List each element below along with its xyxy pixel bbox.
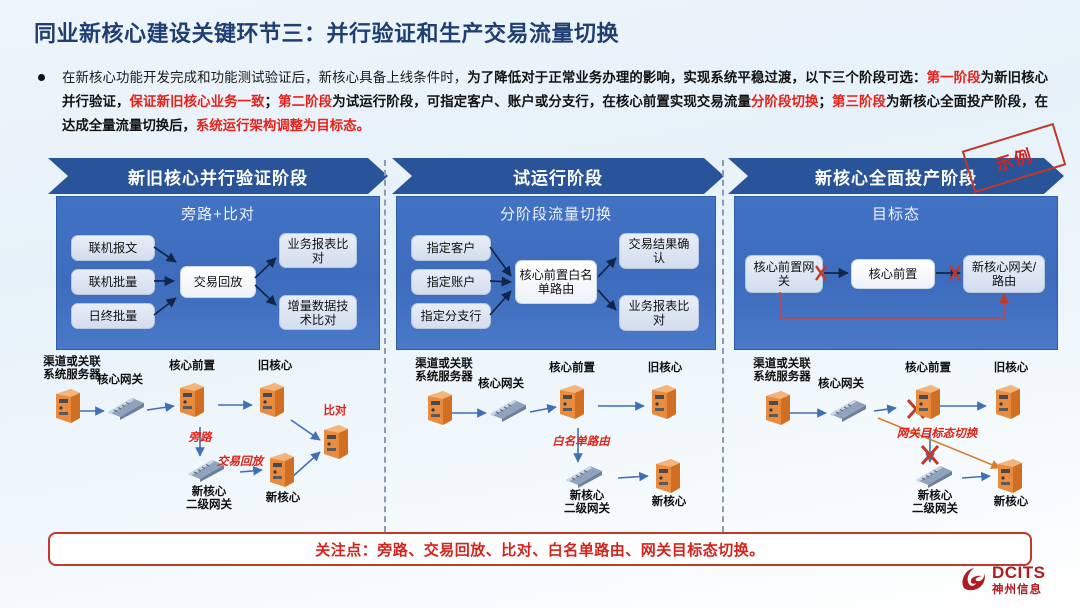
col3-server-icon-3 (992, 384, 1022, 425)
bullet-segment-9: ； (819, 94, 832, 109)
col2-gateway-icon-1 (488, 398, 528, 427)
col2-node-5-label: 新核心 (634, 496, 704, 509)
bullet-segment-7: 为试运行阶段，可指定客户、账户或分支行，在核心前置实现交易流量 (332, 94, 751, 109)
col1-server-icon-2 (176, 382, 206, 423)
phase1-input-3[interactable]: 日终批量 (71, 303, 155, 329)
bullet-segment-2: 第一阶段 (927, 70, 981, 85)
phase-panel-1-title: 旁路+比对 (57, 203, 379, 224)
col1-server-icon-4 (320, 424, 350, 465)
col2-gateway-icon-4 (564, 464, 604, 493)
col2-server-icon-2 (556, 384, 586, 425)
phase1-input-1[interactable]: 联机报文 (71, 235, 155, 261)
col3-node-3-label: 旧核心 (976, 362, 1046, 375)
col3-edge-label-gwswitch: 网关目标态切换 (884, 428, 990, 441)
col3-node-4-label: 新核心二级网关 (892, 490, 978, 516)
bullet-dot-icon (38, 74, 45, 81)
bullet-segment-1: 为了降低对于正常业务办理的影响，实现系统平稳过渡，以下三个阶段可选： (467, 70, 926, 85)
col2-server-icon-0 (424, 390, 454, 431)
column-separator-1 (384, 160, 386, 532)
dcits-cn-name: 神州信息 (992, 581, 1042, 597)
col1-gateway-icon-1 (106, 396, 146, 425)
dcits-mark-icon (958, 564, 988, 594)
col3-node-1-label: 核心网关 (806, 378, 876, 391)
col1-edge-label-replay: 交易回放 (208, 456, 272, 469)
col1-node-3-label: 旧核心 (240, 360, 310, 373)
phase-panel-2: 分阶段流量切换 指定客户 指定账户 指定分支行 核心前置白名单路由 交易结果确认… (396, 196, 716, 350)
col1-node-6-label: 新核心 (248, 492, 318, 505)
col1-node-5-label: 新核心二级网关 (166, 486, 252, 512)
phase1-hub[interactable]: 交易回放 (180, 266, 256, 298)
phase2-hub[interactable]: 核心前置白名单路由 (515, 260, 597, 304)
col2-edge-label-whitelist: 白名单路由 (546, 436, 616, 449)
col1-compare-label: 比对 (308, 405, 362, 418)
phase-banner-2[interactable]: 试运行阶段 (392, 158, 724, 194)
phase3-chain-2[interactable]: 核心前置 (851, 259, 935, 289)
col3-server-icon-0 (762, 390, 792, 431)
col1-server-icon-0 (52, 388, 82, 429)
phase2-input-1[interactable]: 指定客户 (411, 235, 491, 261)
bullet-segment-10: 第三阶段 (832, 94, 886, 109)
phase-banner-1[interactable]: 新旧核心并行验证阶段 (48, 158, 388, 194)
slide-root: 同业新核心建设关键环节三：并行验证和生产交易流量切换 在新核心功能开发完成和功能… (0, 0, 1080, 608)
bullet-segment-8: 分阶段切换 (751, 94, 819, 109)
col2-node-3-label: 旧核心 (630, 362, 700, 375)
col3-server-icon-5 (994, 458, 1024, 499)
col2-server-icon-3 (648, 384, 678, 425)
phase2-input-2[interactable]: 指定账户 (411, 269, 491, 295)
col3-node-2-label: 核心前置 (888, 362, 968, 375)
bullet-segment-6: 第二阶段 (278, 94, 332, 109)
dcits-wordmark: DCITS (992, 563, 1046, 583)
page-title: 同业新核心建设关键环节三：并行验证和生产交易流量切换 (34, 16, 934, 48)
col2-node-2-label: 核心前置 (532, 362, 612, 375)
phase2-output-2[interactable]: 业务报表比对 (619, 295, 699, 331)
col2-server-icon-5 (652, 458, 682, 499)
bullet-segment-0: 在新核心功能开发完成和功能测试验证后，新核心具备上线条件时， (62, 70, 467, 85)
col3-node-5-label: 新核心 (976, 496, 1046, 509)
bullet-paragraph-block: 在新核心功能开发完成和功能测试验证后，新核心具备上线条件时，为了降低对于正常业务… (38, 66, 1048, 138)
bullet-segment-4: 保证新旧核心业务一致 (130, 94, 265, 109)
col2-node-4-label: 新核心二级网关 (544, 490, 630, 516)
bullet-segment-5: ； (265, 94, 278, 109)
dcits-logo: DCITS 神州信息 (958, 562, 1076, 602)
col3-server-icon-2 (912, 384, 942, 425)
col3-gateway-icon-1 (828, 398, 868, 427)
col1-server-icon-3 (256, 382, 286, 423)
col3-gateway-icon-4 (914, 464, 954, 493)
phase-panel-3-title: 目标态 (735, 203, 1057, 224)
phase-panel-3: 目标态 核心前置网关 核心前置 新核心网关/路由 (734, 196, 1058, 350)
phase3-chain-3[interactable]: 新核心网关/路由 (963, 255, 1045, 293)
phase-panel-1: 旁路+比对 联机报文 联机批量 日终批量 交易回放 业务报表比对 增量数据技术比… (56, 196, 380, 350)
phase2-output-1[interactable]: 交易结果确认 (619, 233, 699, 269)
col1-node-1-label: 核心网关 (85, 374, 155, 387)
phase3-chain-1[interactable]: 核心前置网关 (745, 255, 823, 293)
phase1-input-2[interactable]: 联机批量 (71, 269, 155, 295)
bullet-paragraph-text: 在新核心功能开发完成和功能测试验证后，新核心具备上线条件时，为了降低对于正常业务… (62, 66, 1048, 138)
phase1-output-1[interactable]: 业务报表比对 (279, 233, 357, 268)
col2-node-1-label: 核心网关 (466, 378, 536, 391)
phase1-output-2[interactable]: 增量数据技术比对 (279, 295, 357, 330)
col1-server-icon-6 (266, 452, 296, 493)
bullet-segment-12: 系统运行架构调整为目标态。 (196, 118, 370, 133)
column-separator-2 (722, 160, 724, 532)
col1-edge-label-bypass: 旁路 (178, 432, 222, 445)
col1-node-2-label: 核心前置 (152, 360, 232, 373)
phase2-input-3[interactable]: 指定分支行 (411, 303, 491, 329)
phase-panel-2-title: 分阶段流量切换 (397, 203, 715, 224)
summary-banner: 关注点：旁路、交易回放、比对、白名单路由、网关目标态切换。 (48, 532, 1032, 566)
